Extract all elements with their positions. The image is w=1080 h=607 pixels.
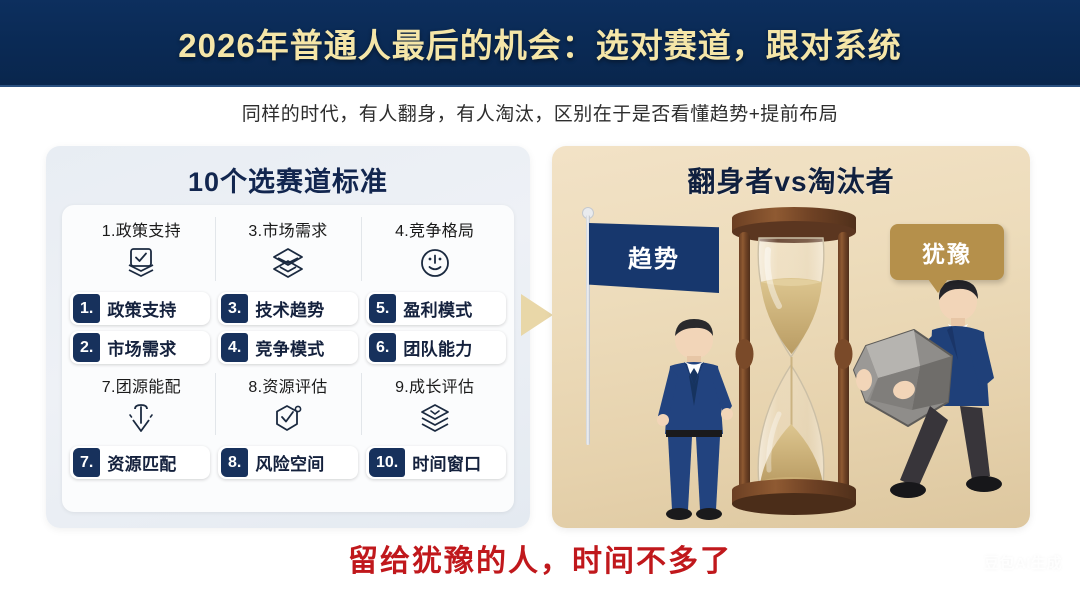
criteria-icon-label: 3.市场需求 — [248, 217, 327, 241]
icon-row-bottom: 7.团源能配 8.资源评估 — [68, 367, 508, 443]
clock-circle-icon — [415, 244, 455, 282]
criteria-badge[interactable]: 5. 盈利模式 — [366, 292, 506, 325]
criteria-card: 1.政策支持 3.市场需求 — [62, 205, 514, 512]
criteria-badge-number: 3. — [221, 294, 248, 324]
flag-label: 趋势 — [628, 239, 680, 274]
criteria-icon-item[interactable]: 4.竞争格局 — [361, 211, 508, 289]
businessman-with-flag-illustration — [640, 314, 748, 522]
criteria-icon-item[interactable]: 1.政策支持 — [68, 211, 215, 289]
criteria-icon-item[interactable]: 8.资源评估 — [215, 367, 362, 443]
criteria-badge-number: 1. — [73, 294, 100, 324]
download-arrow-icon — [121, 400, 161, 438]
criteria-icon-label: 8.资源评估 — [248, 373, 327, 397]
watermark-label: 豆包AI生成 — [984, 552, 1062, 573]
criteria-badge[interactable]: 2. 市场需求 — [70, 331, 210, 364]
badge-row-1: 1. 政策支持 3. 技术趋势 5. 盈利模式 — [68, 289, 508, 328]
criteria-badge-label: 资源匹配 — [107, 450, 176, 475]
criteria-badge-number: 7. — [73, 448, 100, 478]
stacked-layers-icon — [415, 400, 455, 438]
criteria-badge-label: 盈利模式 — [403, 296, 472, 321]
criteria-badge[interactable]: 10. 时间窗口 — [366, 446, 506, 479]
criteria-icon-label: 7.团源能配 — [102, 373, 181, 397]
criteria-badge-label: 政策支持 — [107, 296, 176, 321]
speech-bubble-icon: 犹豫 — [890, 224, 1004, 280]
hexagon-check-icon — [268, 400, 308, 438]
criteria-badge-label: 时间窗口 — [412, 450, 481, 475]
criteria-badge[interactable]: 6. 团队能力 — [366, 331, 506, 364]
criteria-badge-label: 团队能力 — [403, 335, 472, 360]
criteria-panel: 10个选赛道标准 1.政策支持 3.市场需求 — [46, 146, 530, 528]
criteria-badge[interactable]: 3. 技术趋势 — [218, 292, 358, 325]
badge-row-2: 2. 市场需求 4. 竞争模式 6. 团队能力 — [68, 328, 508, 367]
criteria-badge-number: 8. — [221, 448, 248, 478]
page-title: 2026年普通人最后的机会：选对赛道，跟对系统 — [178, 19, 901, 67]
criteria-badge-number: 6. — [369, 333, 396, 363]
page-subtitle: 同样的时代，有人翻身，有人淘汰，区别在于是否看懂趋势+提前布局 — [0, 99, 1080, 126]
footer-callout: 留给犹豫的人，时间不多了 — [0, 536, 1080, 580]
criteria-badge-number: 4. — [221, 333, 248, 363]
criteria-badge-number: 2. — [73, 333, 100, 363]
criteria-badge-label: 市场需求 — [107, 335, 176, 360]
flag-cloth: 趋势 — [589, 223, 719, 293]
criteria-badge-number: 10. — [369, 448, 405, 478]
right-triangle-arrow-icon — [521, 294, 553, 336]
comparison-panel: 翻身者vs淘汰者 趋势 犹豫 — [552, 146, 1030, 528]
criteria-icon-item[interactable]: 7.团源能配 — [68, 367, 215, 443]
criteria-icon-label: 4.竞争格局 — [395, 217, 474, 241]
criteria-badge[interactable]: 7. 资源匹配 — [70, 446, 210, 479]
criteria-badge-label: 竞争模式 — [255, 335, 324, 360]
criteria-badge-label: 风险空间 — [255, 450, 324, 475]
criteria-icon-label: 9.成长评估 — [395, 373, 474, 397]
criteria-icon-item[interactable]: 3.市场需求 — [215, 211, 362, 289]
document-check-icon — [121, 244, 161, 282]
criteria-badge[interactable]: 4. 竞争模式 — [218, 331, 358, 364]
criteria-badge[interactable]: 1. 政策支持 — [70, 292, 210, 325]
businessman-carrying-rock-illustration — [848, 274, 1028, 524]
criteria-icon-label: 1.政策支持 — [102, 217, 181, 241]
criteria-badge-label: 技术趋势 — [255, 296, 324, 321]
criteria-badge-number: 5. — [369, 294, 396, 324]
criteria-panel-title: 10个选赛道标准 — [46, 146, 530, 199]
badge-row-3: 7. 资源匹配 8. 风险空间 10. 时间窗口 — [68, 443, 508, 482]
layers-chevron-icon — [268, 244, 308, 282]
speech-bubble-label: 犹豫 — [922, 235, 972, 269]
comparison-panel-title: 翻身者vs淘汰者 — [552, 160, 1030, 200]
criteria-badge[interactable]: 8. 风险空间 — [218, 446, 358, 479]
page-header: 2026年普通人最后的机会：选对赛道，跟对系统 — [0, 0, 1080, 87]
criteria-icon-item[interactable]: 9.成长评估 — [361, 367, 508, 443]
icon-row-top: 1.政策支持 3.市场需求 — [68, 211, 508, 289]
